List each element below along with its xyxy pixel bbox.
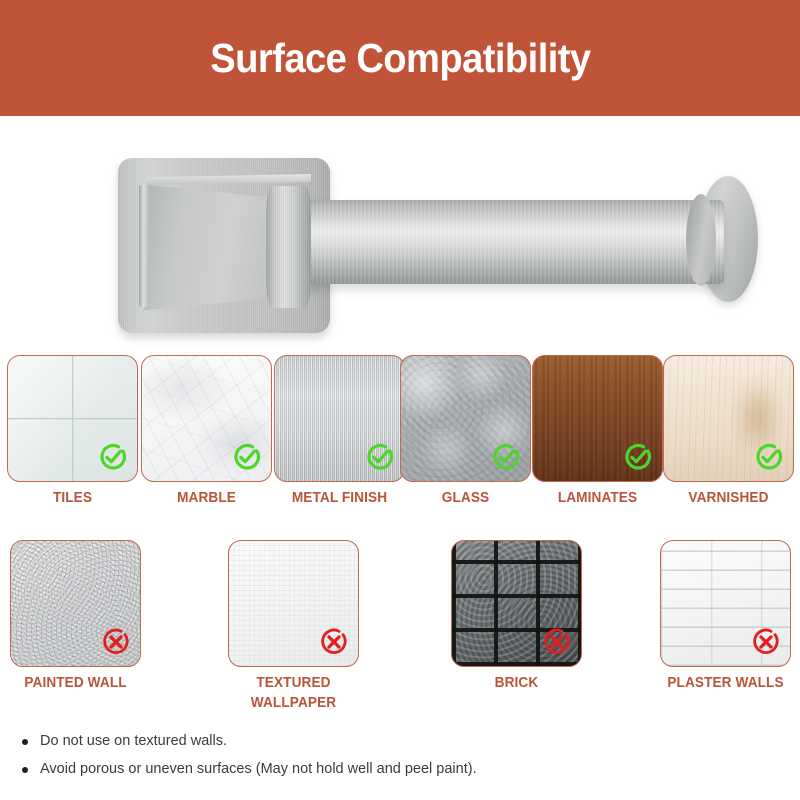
surface-swatch-marble: MARBLE: [141, 355, 272, 509]
x-circle-icon: [542, 627, 572, 657]
swatch-label: TILES: [11, 489, 134, 509]
check-circle-icon: [623, 442, 653, 472]
bullet-icon: [22, 739, 28, 745]
check-circle-icon: [365, 442, 395, 472]
swatch-label: BRICK: [455, 674, 578, 694]
swatch-label: METAL FINISH: [278, 489, 401, 509]
surface-swatch-metal-finish: METAL FINISH: [274, 355, 405, 509]
note-item: Avoid porous or uneven surfaces (May not…: [22, 756, 722, 784]
swatch-label: GLASS: [404, 489, 527, 509]
bracket-edge: [139, 178, 149, 314]
x-circle-icon: [318, 626, 350, 658]
check-circle-icon: [97, 441, 129, 473]
bullet-icon: [22, 767, 28, 773]
check-circle-icon: [231, 441, 263, 473]
swatch-label: PLASTER WALLS: [664, 674, 787, 694]
surface-swatch-brick: BRICK: [451, 540, 582, 694]
check-circle-icon: [754, 442, 784, 472]
page-title: Surface Compatibility: [210, 38, 590, 79]
swatch-label: TEXTUREDWALLPAPER: [232, 674, 355, 713]
swatch-texture-approved: [663, 355, 794, 482]
swatch-texture-rejected: [228, 540, 359, 667]
surface-swatch-varnished: VARNISHED: [663, 355, 794, 509]
product-toilet-paper-holder: [118, 138, 778, 338]
surface-swatch-painted-wall: PAINTED WALL: [10, 540, 141, 694]
notes-list: Do not use on textured walls.Avoid porou…: [22, 728, 722, 783]
check-circle-icon: [622, 441, 654, 473]
swatch-label: PAINTED WALL: [14, 674, 137, 694]
header-banner: Surface Compatibility: [0, 0, 800, 116]
swatch-label: LAMINATES: [536, 489, 659, 509]
rod-end-cap-inner: [686, 194, 716, 286]
check-circle-icon: [232, 442, 262, 472]
note-text: Avoid porous or uneven surfaces (May not…: [40, 756, 477, 784]
swatch-texture-approved: [274, 355, 405, 482]
swatch-texture-rejected: [10, 540, 141, 667]
surface-swatch-plaster-walls: PLASTER WALLS: [660, 540, 791, 694]
surface-swatch-laminates: LAMINATES: [532, 355, 663, 509]
note-text: Do not use on textured walls.: [40, 728, 227, 756]
product-hero: [0, 116, 800, 348]
x-circle-icon: [319, 627, 349, 657]
x-circle-icon: [751, 627, 781, 657]
check-circle-icon: [753, 441, 785, 473]
swatch-texture-approved: [400, 355, 531, 482]
surface-swatch-tiles: TILES: [7, 355, 138, 509]
swatch-label: MARBLE: [145, 489, 268, 509]
check-circle-icon: [490, 441, 522, 473]
swatch-texture-approved: [7, 355, 138, 482]
check-circle-icon: [491, 442, 521, 472]
x-circle-icon: [101, 627, 131, 657]
x-circle-icon: [750, 626, 782, 658]
rod-collar: [266, 186, 311, 308]
holder-rod: [304, 200, 724, 284]
check-circle-icon: [98, 442, 128, 472]
swatch-texture-approved: [141, 355, 272, 482]
check-circle-icon: [364, 441, 396, 473]
swatch-texture-rejected: [660, 540, 791, 667]
infographic-page: Surface Compatibility TILESMARBLEMETAL F…: [0, 0, 800, 800]
swatch-label: VARNISHED: [667, 489, 790, 509]
surface-swatch-glass: GLASS: [400, 355, 531, 509]
swatch-texture-approved: [532, 355, 663, 482]
tile-grout-horizontal: [8, 418, 137, 420]
surface-swatch-textured-wallpaper: TEXTUREDWALLPAPER: [228, 540, 359, 713]
x-circle-icon: [100, 626, 132, 658]
swatch-texture-rejected: [451, 540, 582, 667]
note-item: Do not use on textured walls.: [22, 728, 722, 756]
x-circle-icon: [541, 626, 573, 658]
